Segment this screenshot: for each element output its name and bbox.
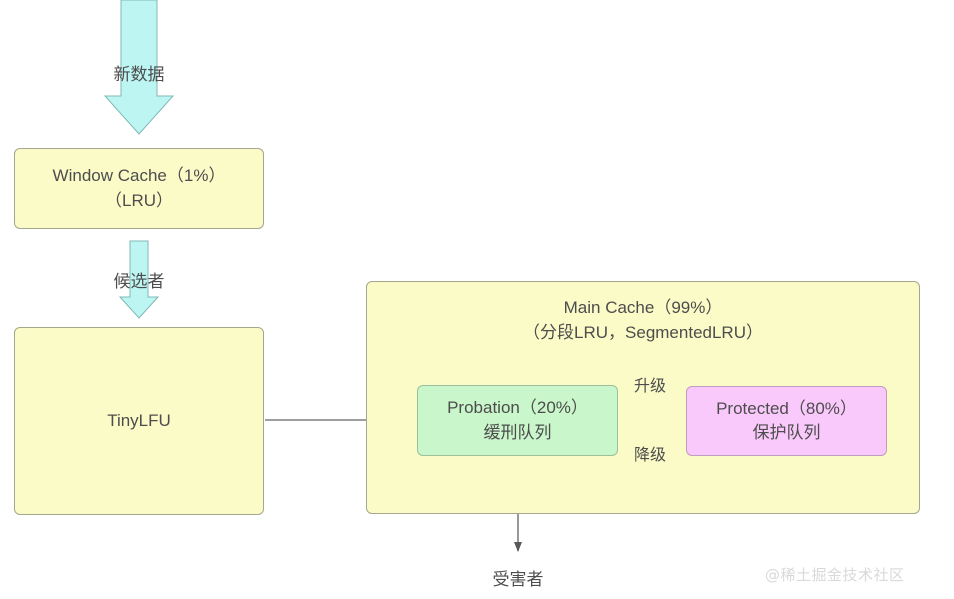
- protected-node[interactable]: Protected（80%） 保护队列: [686, 386, 887, 456]
- protected-line2: 保护队列: [753, 421, 821, 445]
- window-cache-line2: （LRU）: [105, 189, 173, 213]
- probation-node[interactable]: Probation（20%） 缓刑队列: [417, 385, 618, 456]
- window-cache-node[interactable]: Window Cache（1%） （LRU）: [14, 148, 264, 229]
- probation-line1: Probation（20%）: [447, 396, 588, 420]
- tinylfu-node[interactable]: TinyLFU: [14, 327, 264, 515]
- main-cache-line2: （分段LRU，SegmentedLRU）: [367, 321, 919, 346]
- probation-line2: 缓刑队列: [484, 421, 552, 445]
- diagram-canvas: Window Cache（1%） （LRU） TinyLFU Main Cach…: [0, 0, 954, 599]
- promote-label: 升级: [615, 372, 685, 396]
- victim-label: 受害者: [473, 565, 563, 590]
- demote-label: 降级: [615, 441, 685, 465]
- main-cache-line1: Main Cache（99%）: [367, 296, 919, 321]
- candidate-label: 候选者: [99, 267, 179, 292]
- watermark-text: @稀土掘金技术社区: [765, 564, 905, 585]
- main-cache-title: Main Cache（99%） （分段LRU，SegmentedLRU）: [367, 296, 919, 345]
- window-cache-line1: Window Cache（1%）: [53, 164, 226, 188]
- new-data-label: 新数据: [99, 60, 179, 85]
- tinylfu-label: TinyLFU: [107, 409, 171, 433]
- protected-line1: Protected（80%）: [716, 397, 857, 421]
